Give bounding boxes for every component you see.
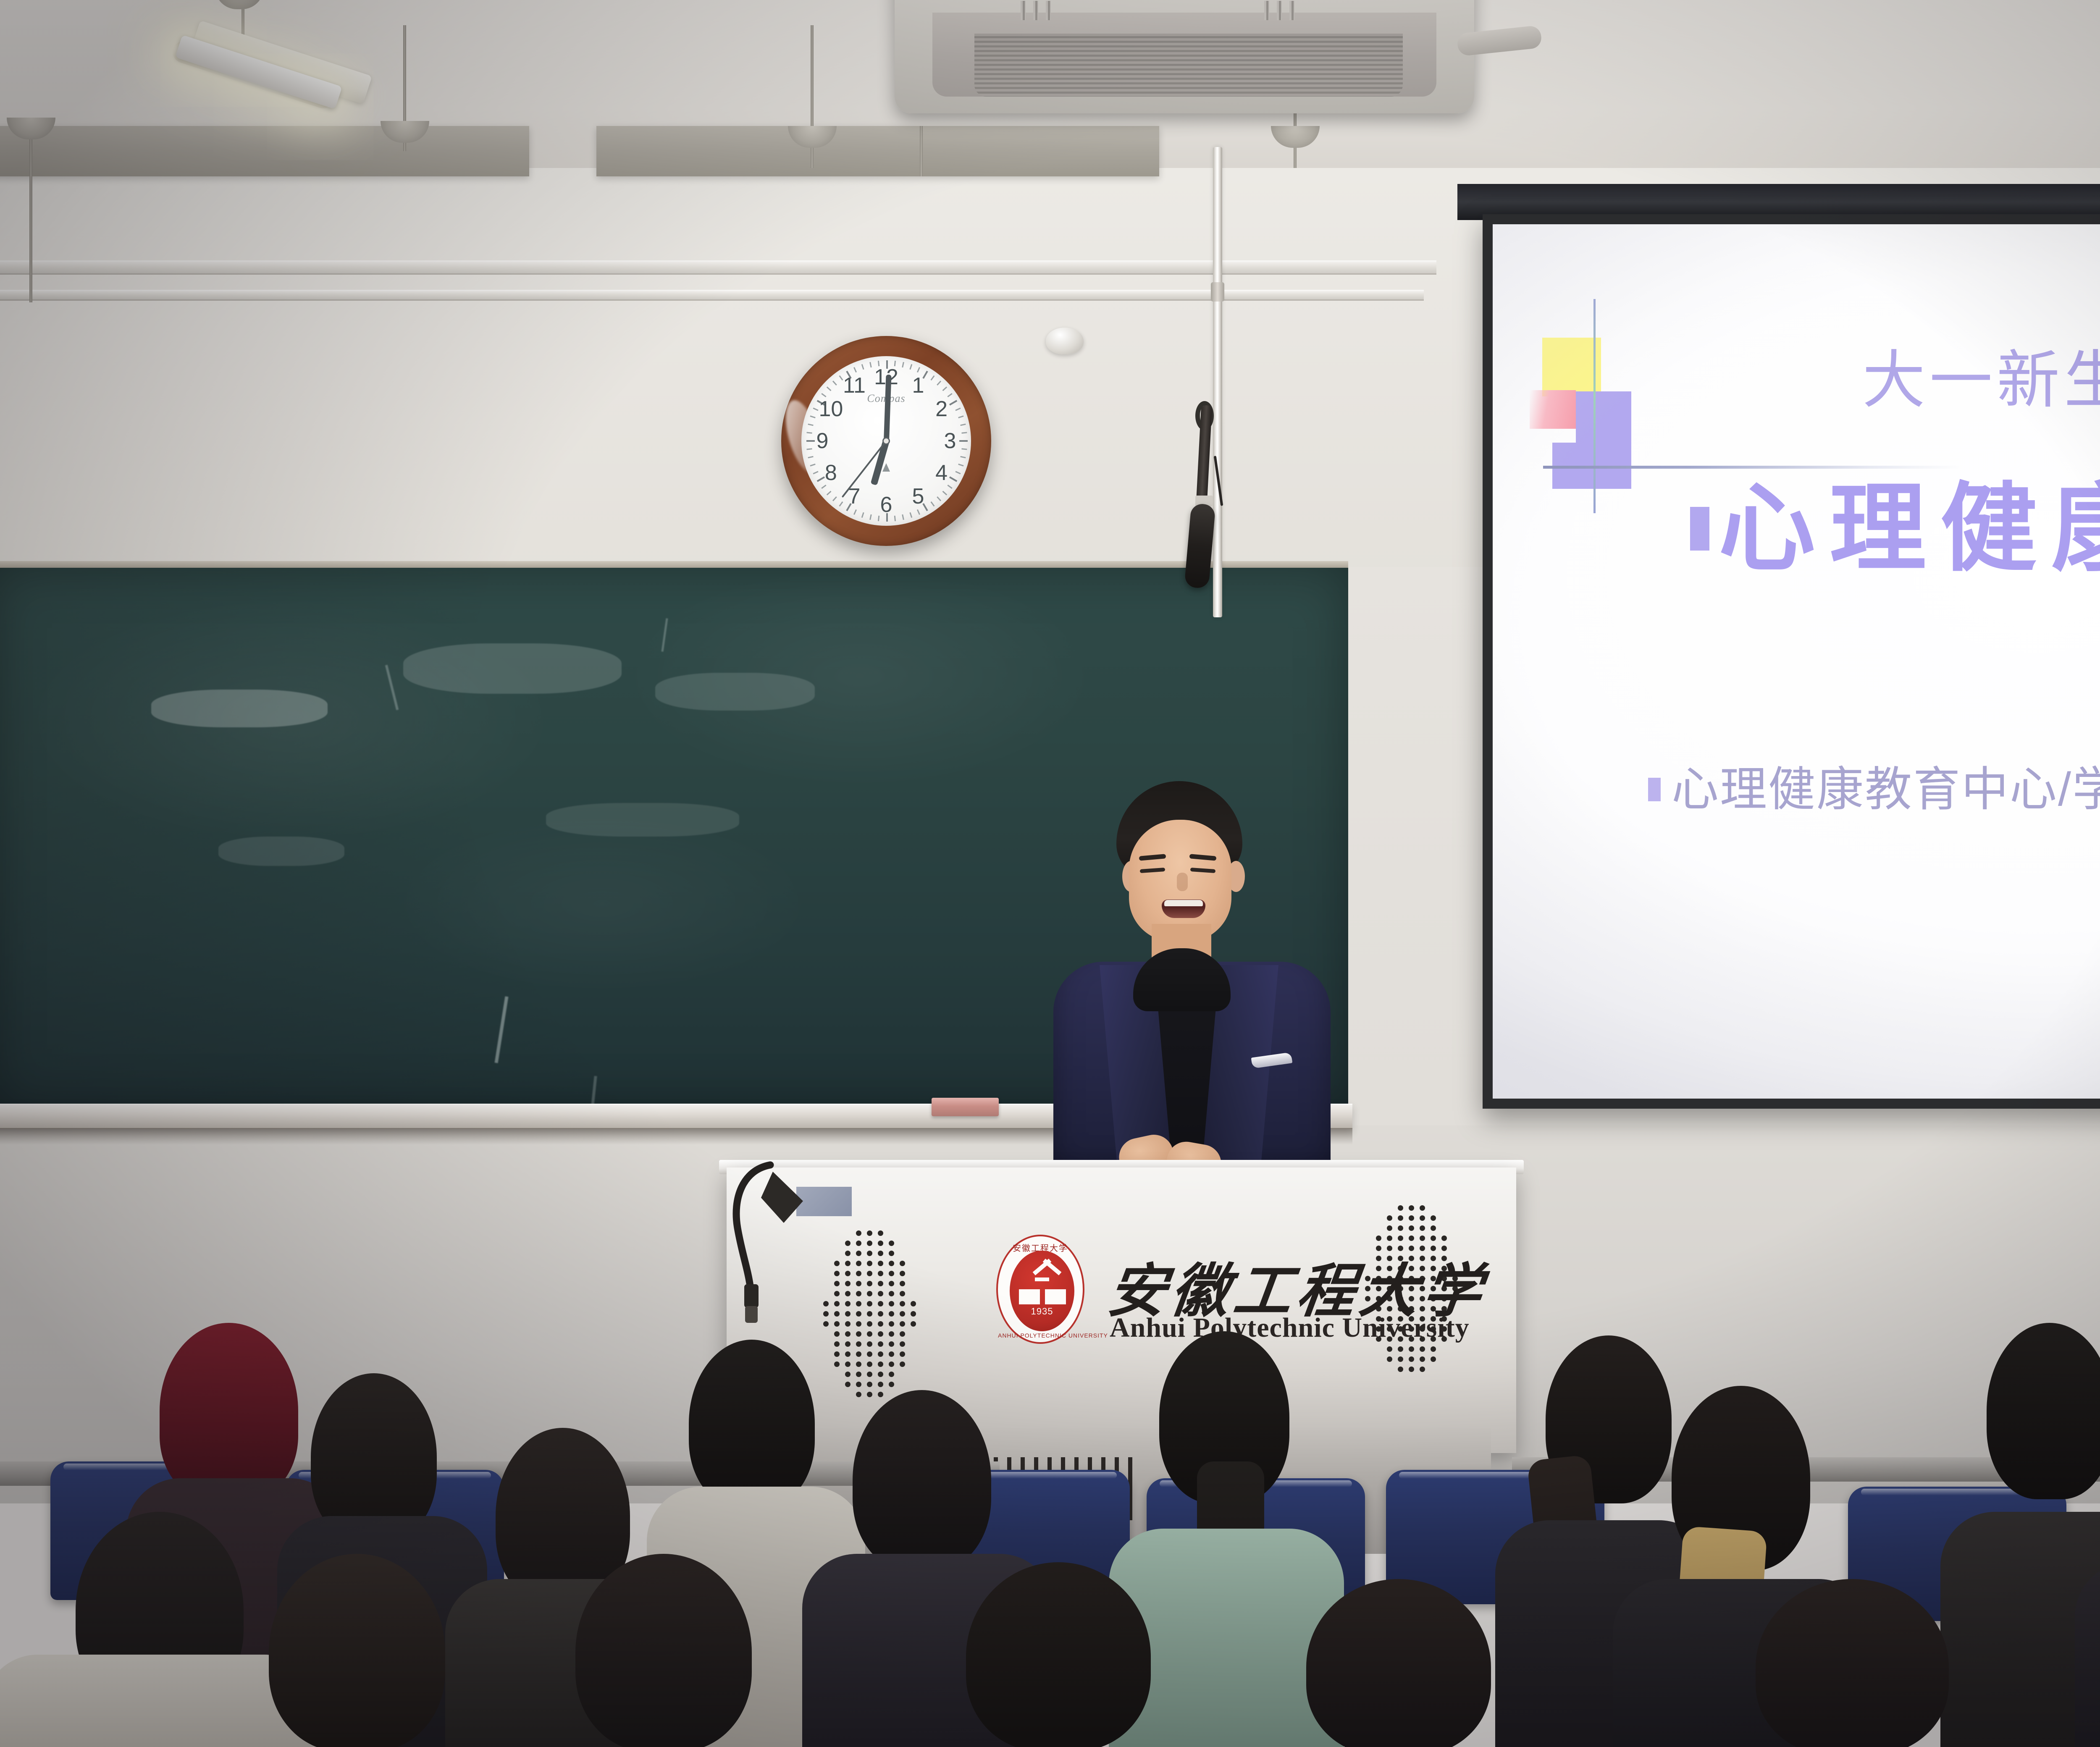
speaker-grille-hole	[889, 1361, 894, 1367]
clock-face: Compas 121234567891011	[801, 356, 971, 526]
speaker-grille-hole	[1398, 1367, 1403, 1372]
speaker-grille-hole	[1409, 1356, 1414, 1362]
speaker-grille-hole	[845, 1382, 850, 1387]
university-emblem-icon: 安徽工程大学 1935 ANHUI POLYTECHNIC UNIVERSITY	[996, 1235, 1084, 1344]
speaker-grille-hole	[1376, 1235, 1381, 1241]
clock-numeral: 10	[818, 396, 843, 422]
clock-tick	[909, 364, 912, 370]
ceiling-soffit-right	[596, 126, 1159, 176]
slide-title-bullet-icon	[1690, 507, 1709, 551]
speaker-grille-hole	[889, 1301, 894, 1306]
clock-numeral: 11	[842, 373, 867, 398]
speaker-grille-hole	[889, 1321, 894, 1327]
speaker-grille-hole	[1431, 1215, 1436, 1221]
clock-tick	[960, 456, 966, 459]
pull-rod-joint	[1211, 282, 1224, 302]
ceiling-soffit-left	[0, 126, 529, 176]
clock-tick	[937, 496, 941, 501]
speaker-grille-hole	[1387, 1356, 1392, 1362]
clock-tick	[942, 491, 948, 496]
clock-tick	[902, 362, 904, 367]
speaker-grille-hole	[1387, 1346, 1392, 1352]
clock-tick	[917, 367, 920, 372]
clock-tick	[832, 380, 837, 386]
slide-subtitle-bullet-icon	[1648, 778, 1661, 801]
speaker-grille-hole	[878, 1321, 883, 1327]
presenter	[1029, 781, 1348, 1180]
slide-title: 心理健康篇	[1719, 480, 2100, 577]
wall-dome-fixture	[1046, 328, 1084, 354]
clock-tick	[955, 471, 961, 474]
audience-head	[269, 1554, 445, 1747]
speaker-grille-hole	[845, 1372, 850, 1377]
speaker-grille-hole	[911, 1311, 916, 1317]
blackboard-eraser	[932, 1098, 999, 1116]
slide-title-row: 心理健康篇	[1690, 480, 2100, 577]
speaker-grille-hole	[900, 1321, 905, 1327]
light-hanger-rod	[29, 126, 32, 302]
speaker-grille-hole	[889, 1341, 894, 1347]
speaker-grille-hole	[889, 1382, 894, 1387]
clock-tick	[937, 380, 941, 386]
speaker-grille-hole	[878, 1311, 883, 1317]
presenter-nose	[1177, 873, 1188, 891]
clock-tick	[931, 375, 935, 380]
clock-tick	[813, 408, 818, 411]
clock-tick	[861, 512, 864, 518]
university-name-en: Anhui Polytechnic University	[1110, 1312, 1470, 1344]
clock-tick	[810, 464, 815, 467]
clock-tick	[827, 386, 832, 391]
audience-head	[575, 1554, 752, 1747]
clock-tick	[958, 415, 963, 418]
clock-tick	[902, 514, 904, 520]
presenter-collar	[1133, 948, 1231, 1011]
clock-tick	[917, 509, 920, 515]
speaker-grille-hole	[900, 1271, 905, 1276]
clock-tick	[909, 512, 912, 518]
speaker-grille-hole	[1420, 1235, 1425, 1241]
speaker-grille-hole	[900, 1361, 905, 1367]
presenter-teeth	[1164, 900, 1203, 906]
clock-numeral: 7	[842, 484, 867, 509]
clock-tick	[955, 408, 961, 411]
speaker-grille-hole	[878, 1392, 883, 1397]
speaker-grille-hole	[1409, 1367, 1414, 1372]
clock-tick	[813, 471, 818, 474]
speaker-grille-hole	[1409, 1225, 1414, 1231]
clock-tick	[853, 509, 857, 515]
slide-deco-horizontal-line	[1543, 466, 1963, 469]
speaker-grille-hole	[1387, 1225, 1392, 1231]
clock-tick	[853, 367, 857, 372]
gooseneck-microphone-icon	[721, 1152, 872, 1361]
speaker-grille-hole	[1431, 1346, 1436, 1352]
speaker-grille-hole	[1398, 1215, 1403, 1221]
speaker-grille-hole	[1420, 1205, 1425, 1211]
speaker-grille-hole	[900, 1331, 905, 1337]
clock-tick	[808, 424, 813, 426]
clock-tick	[958, 464, 963, 467]
speaker-grille-hole	[1420, 1346, 1425, 1352]
speaker-grille-hole	[1420, 1356, 1425, 1362]
projection-screen: 大一新生主题讲座之 心理健康篇 心理健康教育中心/学生处 杜松涛	[1493, 224, 2100, 1099]
speaker-grille-hole	[911, 1301, 916, 1306]
speaker-grille-hole	[1398, 1235, 1403, 1241]
speaker-grille-hole	[900, 1281, 905, 1286]
speaker-grille-hole	[856, 1382, 861, 1387]
clock-numeral: 8	[818, 460, 843, 485]
clock-numeral: 3	[937, 428, 963, 454]
speaker-grille-hole	[878, 1301, 883, 1306]
speaker-grille-hole	[900, 1261, 905, 1266]
speaker-grille-hole	[856, 1372, 861, 1377]
speaker-grille-hole	[878, 1230, 883, 1236]
speaker-grille-hole	[889, 1241, 894, 1246]
speaker-grille-hole	[845, 1361, 850, 1367]
speaker-grille-hole	[900, 1311, 905, 1317]
speaker-grille-hole	[1387, 1235, 1392, 1241]
clock-tick	[832, 496, 837, 501]
speaker-grille-hole	[1409, 1346, 1414, 1352]
speaker-grille-hole	[1441, 1235, 1447, 1241]
ceiling-air-conditioner	[895, 0, 1474, 113]
speaker-grille-hole	[878, 1361, 883, 1367]
speaker-grille-hole	[1398, 1225, 1403, 1231]
speaker-grille-hole	[867, 1372, 872, 1377]
emblem-ring-bottom-text: ANHUI POLYTECHNIC UNIVERSITY	[998, 1332, 1083, 1339]
clock-numeral: 5	[906, 484, 931, 509]
clock-numeral: 2	[929, 396, 954, 422]
speaker-grille-hole	[856, 1392, 861, 1397]
slide-subtitle: 心理健康教育中心/学生处 杜松涛	[1672, 766, 2100, 813]
speaker-grille-hole	[878, 1281, 883, 1286]
speaker-grille-hole	[1398, 1346, 1403, 1352]
speaker-grille-hole	[889, 1291, 894, 1296]
maroon-beanie	[160, 1323, 298, 1499]
speaker-grille-hole	[878, 1382, 883, 1387]
clock-six-marker	[882, 463, 890, 472]
clock-tick	[810, 415, 815, 418]
emblem-core: 1935	[1010, 1251, 1074, 1331]
clock-tick	[960, 424, 966, 426]
speaker-grille-hole	[1431, 1235, 1436, 1241]
wall-rail-lower	[0, 290, 1424, 301]
speaker-grille-hole	[1409, 1215, 1414, 1221]
clock-numeral: 1	[906, 373, 931, 398]
speaker-grille-hole	[867, 1382, 872, 1387]
speaker-grille-hole	[878, 1341, 883, 1347]
speaker-grille-hole	[1420, 1215, 1425, 1221]
clock-center-cap	[882, 437, 890, 445]
clock-tick	[808, 456, 813, 459]
audience-head	[689, 1340, 815, 1508]
speaker-grille-hole	[889, 1281, 894, 1286]
speaker-grille-hole	[900, 1301, 905, 1306]
speaker-grille-hole	[867, 1361, 872, 1367]
speaker-grille-hole	[878, 1241, 883, 1246]
speaker-grille-hole	[900, 1351, 905, 1357]
speaker-grille-hole	[878, 1271, 883, 1276]
speaker-grille-hole	[1409, 1205, 1414, 1211]
speaker-grille-hole	[889, 1331, 894, 1337]
speaker-grille-hole	[834, 1361, 840, 1367]
speaker-grille-hole	[889, 1251, 894, 1256]
speaker-grille-hole	[878, 1261, 883, 1266]
clock-tick	[827, 491, 832, 496]
clock-tick	[861, 364, 864, 370]
speaker-grille-hole	[889, 1372, 894, 1377]
speaker-grille-hole	[911, 1321, 916, 1327]
speaker-grille-hole	[867, 1392, 872, 1397]
speaker-grille-hole	[1398, 1356, 1403, 1362]
speaker-grille-hole	[900, 1341, 905, 1347]
speaker-grille-hole	[856, 1361, 861, 1367]
clock-tick	[931, 501, 935, 506]
screen-pull-rod[interactable]	[1213, 147, 1222, 617]
audience-head	[1756, 1579, 1949, 1747]
clock-numeral: 4	[929, 460, 954, 485]
speaker-grille-hole	[1431, 1356, 1436, 1362]
clock-tick	[869, 514, 872, 520]
speaker-grille-hole	[889, 1351, 894, 1357]
audience-head	[966, 1562, 1151, 1747]
emblem-year: 1935	[1010, 1306, 1074, 1317]
slide-deco-pink-square	[1530, 390, 1576, 429]
wall-clock: Compas 121234567891011	[781, 336, 991, 546]
speaker-grille-hole	[1387, 1215, 1392, 1221]
clock-numeral: 6	[874, 492, 899, 517]
audience-head	[1306, 1579, 1491, 1747]
speaker-grille-hole	[1409, 1235, 1414, 1241]
speaker-grille-hole	[889, 1271, 894, 1276]
speaker-grille-hole	[878, 1251, 883, 1256]
clock-numeral: 9	[810, 428, 835, 454]
light-hanger-rod	[920, 126, 923, 176]
speaker-grille-hole	[1431, 1225, 1436, 1231]
slide-deco-vertical-line	[1593, 299, 1596, 513]
slide-subtitle-row: 心理健康教育中心/学生处 杜松涛	[1648, 766, 2100, 813]
slide-deco-yellow-square	[1542, 338, 1601, 396]
clock-tick	[869, 362, 872, 367]
speaker-grille-hole	[900, 1291, 905, 1296]
speaker-grille-hole	[878, 1372, 883, 1377]
speaker-grille-hole	[878, 1331, 883, 1337]
speaker-grille-hole	[1420, 1367, 1425, 1372]
speaker-grille-hole	[889, 1311, 894, 1317]
clock-tick	[942, 386, 948, 391]
audience-head	[853, 1390, 991, 1571]
speaker-grille-hole	[878, 1291, 883, 1296]
speaker-grille-hole	[1398, 1205, 1403, 1211]
speaker-grille-hole	[1420, 1225, 1425, 1231]
speaker-grille-hole	[878, 1351, 883, 1357]
slide-kicker-main: 大一新生主题讲座	[1862, 345, 2100, 415]
slide-kicker: 大一新生主题讲座之	[1862, 329, 2100, 420]
speaker-grille-hole	[889, 1261, 894, 1266]
lecture-hall-scene: Compas 121234567891011	[0, 0, 2100, 1747]
